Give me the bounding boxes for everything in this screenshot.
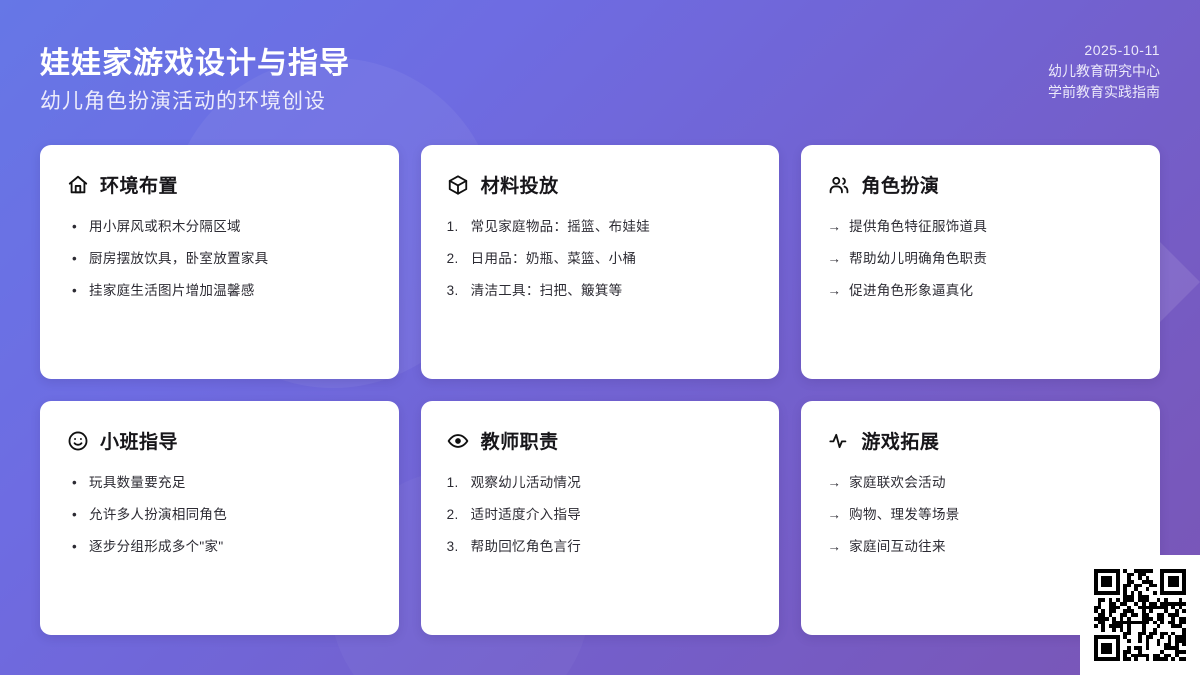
list-item-text: 挂家庭生活图片增加温馨感 [89,282,255,300]
card-header: 材料投放 [447,171,754,198]
card-item-list: 1.观察幼儿活动情况2.适时适度介入指导3.帮助回忆角色言行 [447,474,754,556]
card-item-list: •玩具数量要充足•允许多人扮演相同角色•逐步分组形成多个"家" [66,474,373,556]
list-item: →家庭联欢会活动 [827,474,1134,492]
arrow-right-icon: → [827,218,841,236]
list-item-text: 促进角色形象逼真化 [849,282,973,300]
header-meta: 2025-10-11 幼儿教育研究中心 学前教育实践指南 [1048,40,1160,103]
list-item: 1.常见家庭物品：摇篮、布娃娃 [447,218,754,236]
card-title: 教师职责 [481,427,559,454]
list-item: 2.适时适度介入指导 [447,506,754,524]
chevron-right-icon [1154,236,1200,328]
card-header: 游戏拓展 [827,427,1134,454]
card-title: 小班指导 [100,427,178,454]
header: 娃娃家游戏设计与指导 幼儿角色扮演活动的环境创设 2025-10-11 幼儿教育… [0,0,1200,140]
qr-code-panel [1080,555,1200,675]
list-item: •玩具数量要充足 [66,474,373,492]
card-item-list: →家庭联欢会活动→购物、理发等场景→家庭间互动往来 [827,474,1134,556]
card-4[interactable]: 小班指导•玩具数量要充足•允许多人扮演相同角色•逐步分组形成多个"家" [40,401,399,635]
list-item: 3.清洁工具：扫把、簸箕等 [447,282,754,300]
arrow-right-icon: → [827,538,841,556]
list-item: →提供角色特征服饰道具 [827,218,1134,236]
bullet-marker: • [72,506,77,524]
page-subtitle: 幼儿角色扮演活动的环境创设 [40,85,326,115]
card-title: 角色扮演 [861,171,939,198]
home-icon [66,173,89,196]
list-item-text: 日用品：奶瓶、菜篮、小桶 [471,250,637,268]
number-marker: 2. [447,250,463,268]
list-item-text: 逐步分组形成多个"家" [89,538,223,556]
arrow-right-icon: → [827,474,841,492]
list-item: 1.观察幼儿活动情况 [447,474,754,492]
list-item-text: 清洁工具：扫把、簸箕等 [471,282,623,300]
list-item-text: 帮助幼儿明确角色职责 [849,250,987,268]
eye-icon [447,429,470,452]
list-item: •厨房摆放饮具，卧室放置家具 [66,250,373,268]
card-title: 游戏拓展 [861,427,939,454]
list-item-text: 购物、理发等场景 [849,506,959,524]
box-icon [447,173,470,196]
bullet-marker: • [72,250,77,268]
card-1[interactable]: 环境布置•用小屏风或积木分隔区域•厨房摆放饮具，卧室放置家具•挂家庭生活图片增加… [40,145,399,379]
card-item-list: •用小屏风或积木分隔区域•厨房摆放饮具，卧室放置家具•挂家庭生活图片增加温馨感 [66,218,373,300]
number-marker: 2. [447,506,463,524]
arrow-right-icon: → [827,506,841,524]
qr-code[interactable] [1094,569,1186,661]
card-3[interactable]: 角色扮演→提供角色特征服饰道具→帮助幼儿明确角色职责→促进角色形象逼真化 [801,145,1160,379]
list-item: •挂家庭生活图片增加温馨感 [66,282,373,300]
list-item: →促进角色形象逼真化 [827,282,1134,300]
list-item: •允许多人扮演相同角色 [66,506,373,524]
list-item-text: 观察幼儿活动情况 [471,474,581,492]
list-item-text: 常见家庭物品：摇篮、布娃娃 [471,218,650,236]
page-title: 娃娃家游戏设计与指导 [40,38,350,82]
card-item-list: 1.常见家庭物品：摇篮、布娃娃2.日用品：奶瓶、菜篮、小桶3.清洁工具：扫把、簸… [447,218,754,300]
card-2[interactable]: 材料投放1.常见家庭物品：摇篮、布娃娃2.日用品：奶瓶、菜篮、小桶3.清洁工具：… [421,145,780,379]
card-grid: 环境布置•用小屏风或积木分隔区域•厨房摆放饮具，卧室放置家具•挂家庭生活图片增加… [40,145,1160,635]
arrow-right-icon: → [827,282,841,300]
list-item: •用小屏风或积木分隔区域 [66,218,373,236]
card-header: 环境布置 [66,171,373,198]
card-5[interactable]: 教师职责1.观察幼儿活动情况2.适时适度介入指导3.帮助回忆角色言行 [421,401,780,635]
bullet-marker: • [72,474,77,492]
bullet-marker: • [72,538,77,556]
list-item: →家庭间互动往来 [827,538,1134,556]
meta-series: 学前教育实践指南 [1048,82,1160,103]
bullet-marker: • [72,218,77,236]
card-item-list: →提供角色特征服饰道具→帮助幼儿明确角色职责→促进角色形象逼真化 [827,218,1134,300]
number-marker: 3. [447,538,463,556]
card-header: 小班指导 [66,427,373,454]
card-header: 教师职责 [447,427,754,454]
list-item-text: 用小屏风或积木分隔区域 [89,218,241,236]
list-item-text: 家庭间互动往来 [849,538,946,556]
meta-date: 2025-10-11 [1048,40,1160,61]
meta-organization: 幼儿教育研究中心 [1048,61,1160,82]
list-item: 3.帮助回忆角色言行 [447,538,754,556]
list-item: →帮助幼儿明确角色职责 [827,250,1134,268]
list-item: →购物、理发等场景 [827,506,1134,524]
card-title: 环境布置 [100,171,178,198]
list-item: •逐步分组形成多个"家" [66,538,373,556]
number-marker: 1. [447,218,463,236]
number-marker: 3. [447,282,463,300]
number-marker: 1. [447,474,463,492]
card-title: 材料投放 [481,171,559,198]
list-item-text: 家庭联欢会活动 [849,474,946,492]
list-item: 2.日用品：奶瓶、菜篮、小桶 [447,250,754,268]
list-item-text: 允许多人扮演相同角色 [89,506,227,524]
list-item-text: 厨房摆放饮具，卧室放置家具 [89,250,268,268]
activity-icon [827,429,850,452]
arrow-right-icon: → [827,250,841,268]
list-item-text: 玩具数量要充足 [89,474,186,492]
bullet-marker: • [72,282,77,300]
smiley-icon [66,429,89,452]
list-item-text: 帮助回忆角色言行 [471,538,581,556]
card-header: 角色扮演 [827,171,1134,198]
list-item-text: 提供角色特征服饰道具 [849,218,987,236]
users-icon [827,173,850,196]
list-item-text: 适时适度介入指导 [471,506,581,524]
